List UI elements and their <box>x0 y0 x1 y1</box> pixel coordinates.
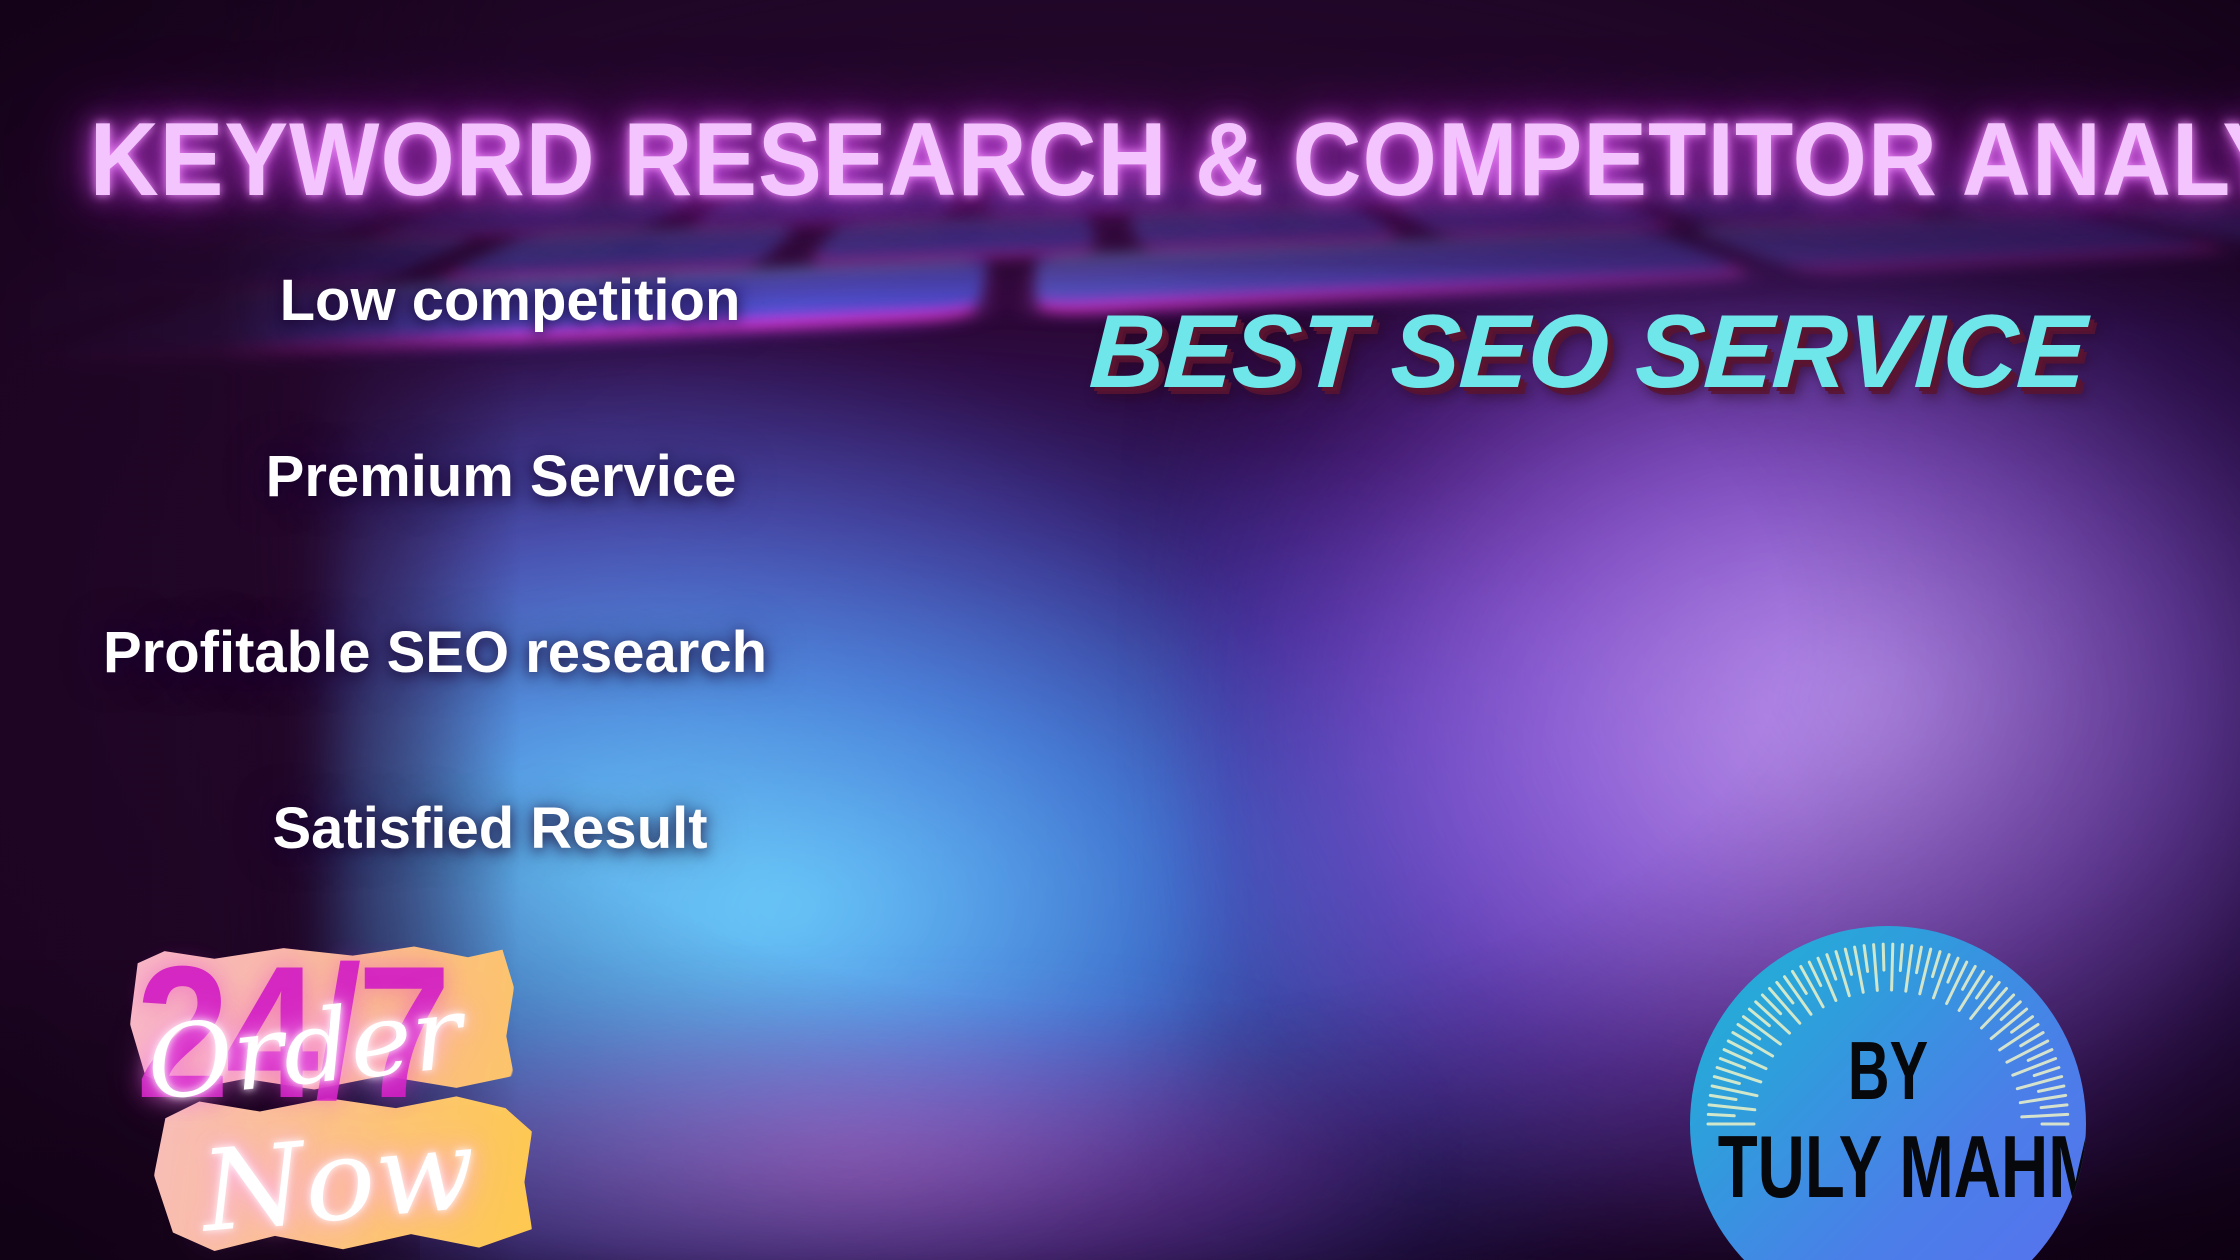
banner-canvas: 4 5 6 E R T Y A S D F G <box>0 0 2240 1260</box>
feature-item-profitable-seo-research: Profitable SEO research <box>0 624 980 682</box>
page-title: KEYWORD RESEARCH & COMPETITOR ANALYSIS <box>90 108 2151 212</box>
feature-item-low-competition: Low competition <box>40 272 980 330</box>
order-now-sticker[interactable]: 24/7 Order Now <box>112 938 532 1260</box>
badge-author-name: TULY MAHMUD <box>1718 1124 2059 1212</box>
author-badge: BY TULY MAHMUD <box>1690 926 2086 1260</box>
feature-item-satisfied-result: Satisfied Result <box>0 800 980 858</box>
badge-prefix: BY <box>1734 1030 2043 1113</box>
badge-text-block: BY TULY MAHMUD <box>1690 1034 2086 1206</box>
feature-list: Low competition Premium Service Profitab… <box>0 272 980 858</box>
seo-service-headline: BEST SEO SERVICE <box>1087 300 2088 404</box>
now-script-text: Now <box>196 1104 481 1257</box>
feature-item-premium-service: Premium Service <box>22 448 980 506</box>
